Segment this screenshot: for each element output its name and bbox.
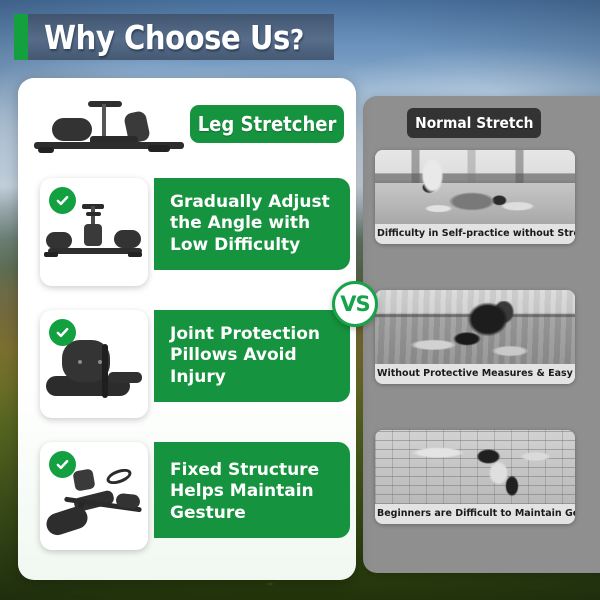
normal-stretch-card-1: Difficulty in Self-practice without Stre… <box>375 150 575 244</box>
feature-row-1: Gradually Adjust the Angle with Low Diff… <box>18 178 356 286</box>
feature-label-3: Fixed Structure Helps Maintain Gesture <box>154 442 350 538</box>
handstand-brick-wall-photo <box>375 430 575 504</box>
normal-stretch-caption-1: Difficulty in Self-practice without Stre… <box>375 224 575 244</box>
check-circle-icon <box>49 451 76 478</box>
page-title-text: Why Choose Us <box>44 18 290 57</box>
header-band: Why Choose Us? <box>28 14 334 60</box>
feature-row-2: Joint Protection Pillows Avoid Injury <box>18 310 356 418</box>
leg-stretcher-wide-bar-with-pads <box>40 178 148 286</box>
leg-stretcher-badge: Leg Stretcher <box>190 105 344 143</box>
machine-post <box>102 104 106 140</box>
thumb1-center-block <box>84 224 102 246</box>
normal-stretch-card-2: Without Protective Measures & Easy to In… <box>375 290 575 384</box>
leg-stretcher-machine-side-view <box>30 96 190 158</box>
page-header: Why Choose Us? <box>14 14 334 60</box>
thumb2-rivet-left <box>78 360 82 364</box>
normal-stretch-caption-2: Without Protective Measures & Easy to In… <box>375 364 575 384</box>
header-accent-bar <box>14 14 28 60</box>
check-circle-icon <box>49 187 76 214</box>
machine-pad-left <box>52 118 92 141</box>
thumb3-backrest <box>72 468 95 491</box>
hero-row: Leg Stretcher <box>18 86 356 164</box>
leg-stretcher-badge-label: Leg Stretcher <box>198 112 337 136</box>
normal-stretch-badge-label: Normal Stretch <box>415 114 533 132</box>
leg-stretcher-angled-full-view <box>40 442 148 550</box>
joint-protection-pillow-closeup <box>40 310 148 418</box>
thumb1-foot-right <box>128 252 142 257</box>
feature-row-3: Fixed Structure Helps Maintain Gesture <box>18 442 356 550</box>
thumb1-pad-left <box>46 232 72 249</box>
machine-foot-right <box>148 145 170 152</box>
thumb1-foot-left <box>44 252 58 257</box>
studio-assisted-stretch-photo <box>375 150 575 224</box>
normal-stretch-caption-3: Beginners are Difficult to Maintain Gest… <box>375 504 575 524</box>
thumb3-foot-plate <box>44 504 91 538</box>
page-title: Why Choose Us? <box>44 18 304 57</box>
thumb2-arm <box>108 372 142 383</box>
dancer-floor-split-photo <box>375 290 575 364</box>
feature-label-2: Joint Protection Pillows Avoid Injury <box>154 310 350 402</box>
thumb1-cap-mid <box>86 212 101 216</box>
check-circle-icon <box>49 319 76 346</box>
versus-badge: VS <box>332 281 378 327</box>
thumb3-pad-right <box>115 493 140 509</box>
thumb1-pad-right <box>114 230 141 248</box>
normal-stretch-panel: Normal Stretch Difficulty in Self-practi… <box>363 96 600 573</box>
leg-stretcher-panel: Leg Stretcher Gradually Adjust the Angle… <box>18 78 356 580</box>
machine-foot-left <box>38 147 54 153</box>
page-title-question-mark: ? <box>290 23 304 56</box>
versus-badge-label: VS <box>340 292 369 316</box>
thumb2-rod <box>102 344 108 398</box>
feature-label-1: Gradually Adjust the Angle with Low Diff… <box>154 178 350 270</box>
normal-stretch-card-3: Beginners are Difficult to Maintain Gest… <box>375 430 575 524</box>
normal-stretch-badge: Normal Stretch <box>407 108 541 138</box>
thumb3-handwheel <box>105 466 134 487</box>
